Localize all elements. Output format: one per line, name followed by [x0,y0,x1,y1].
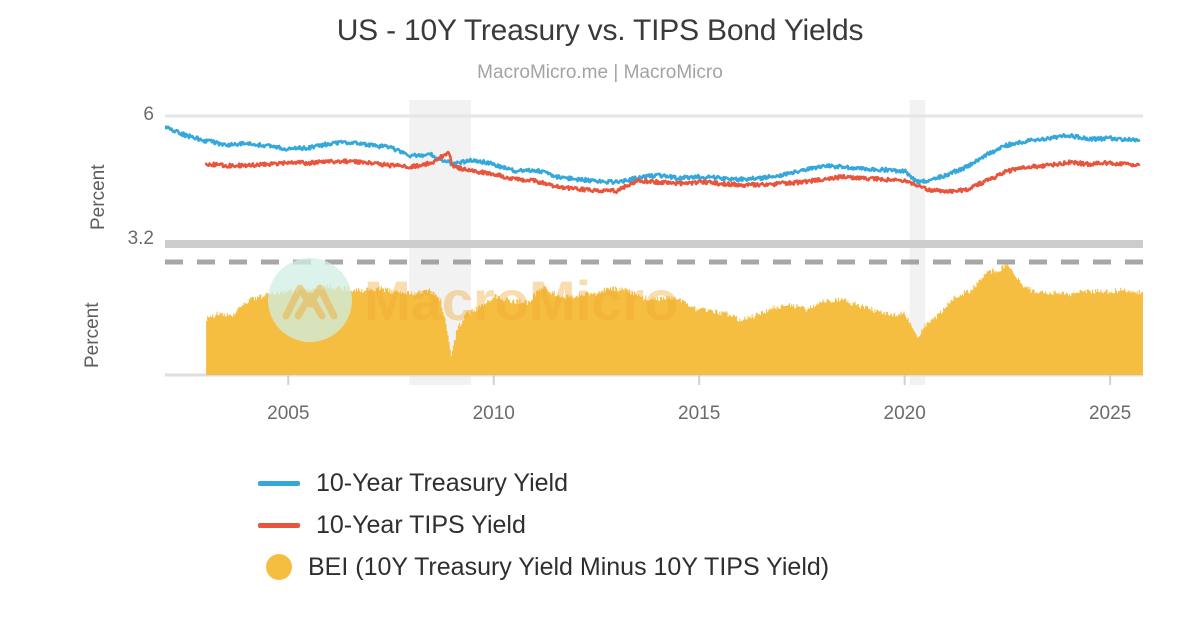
y-axis-title-yields: Percent [88,165,110,230]
legend-item-2[interactable]: BEI (10Y Treasury Yield Minus 10Y TIPS Y… [0,546,1200,588]
x-axis-tick-2020: 2020 [860,403,950,425]
y-axis-tick-lower: 3.2 [92,228,154,250]
y-axis-tick-upper: 6 [92,104,154,126]
legend-item-1[interactable]: 10-Year TIPS Yield [0,504,1200,546]
panel-divider-layer [165,240,1143,248]
legend-marker-dot-icon [266,554,292,580]
bei-area-layer [206,263,1143,375]
y-axis-title-bei: Percent [82,303,104,368]
legend-label: 10-Year Treasury Yield [316,469,568,498]
chart-source-subtitle: MacroMicro.me | MacroMicro [0,62,1200,84]
x-axis-tick-2005: 2005 [243,403,333,425]
yield-lines-layer [165,127,1139,193]
legend-label: BEI (10Y Treasury Yield Minus 10Y TIPS Y… [308,553,829,582]
legend-label: 10-Year TIPS Yield [316,511,526,540]
chart-container: US - 10Y Treasury vs. TIPS Bond Yields M… [0,0,1200,630]
plot-svg [165,100,1143,385]
plot-area [165,100,1143,385]
page-title: US - 10Y Treasury vs. TIPS Bond Yields [0,14,1200,48]
legend-item-0[interactable]: 10-Year Treasury Yield [0,462,1200,504]
legend-marker-line-icon [258,523,300,528]
chart-legend: 10-Year Treasury Yield10-Year TIPS Yield… [0,462,1200,588]
x-axis-tick-2010: 2010 [449,403,539,425]
x-axis-tick-2025: 2025 [1065,403,1155,425]
legend-marker-line-icon [258,481,300,486]
x-axis-tick-2015: 2015 [654,403,744,425]
